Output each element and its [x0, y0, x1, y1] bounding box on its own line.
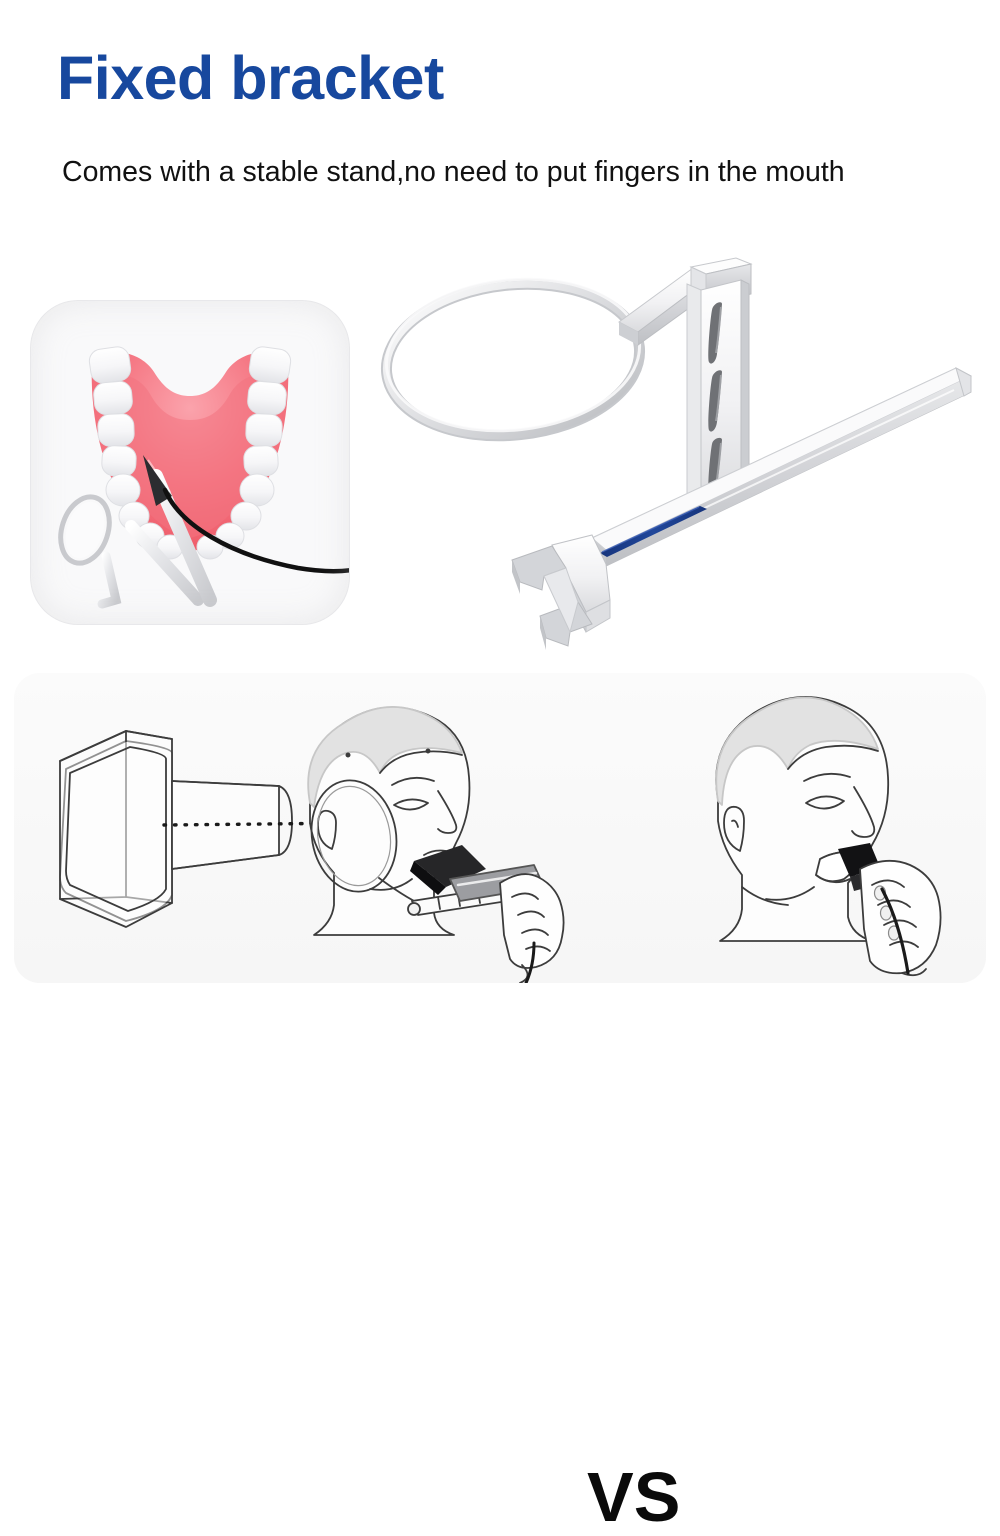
aiming-ring: [379, 267, 647, 448]
page-title: Fixed bracket: [57, 48, 444, 109]
header-section: Fixed bracket Comes with a stable stand,…: [0, 0, 1000, 265]
xray-tube-head: [60, 731, 172, 927]
xray-collimator-cone: [172, 781, 292, 869]
dental-arch-card: [30, 300, 350, 625]
bracket-device-figure: [370, 250, 990, 650]
vs-label: VS: [587, 1462, 680, 1532]
card-inner-shadow: [30, 300, 350, 625]
bite-block-clip: [512, 535, 610, 650]
bracket-device-render: [370, 250, 990, 650]
product-feature-slide: Fixed bracket Comes with a stable stand,…: [0, 0, 1000, 1000]
operator-hand-right: [860, 861, 941, 975]
page-subtitle: Comes with a stable stand,no need to put…: [62, 148, 892, 197]
comparison-panel: VS: [14, 673, 986, 983]
comparison-illustrations: [14, 673, 986, 983]
